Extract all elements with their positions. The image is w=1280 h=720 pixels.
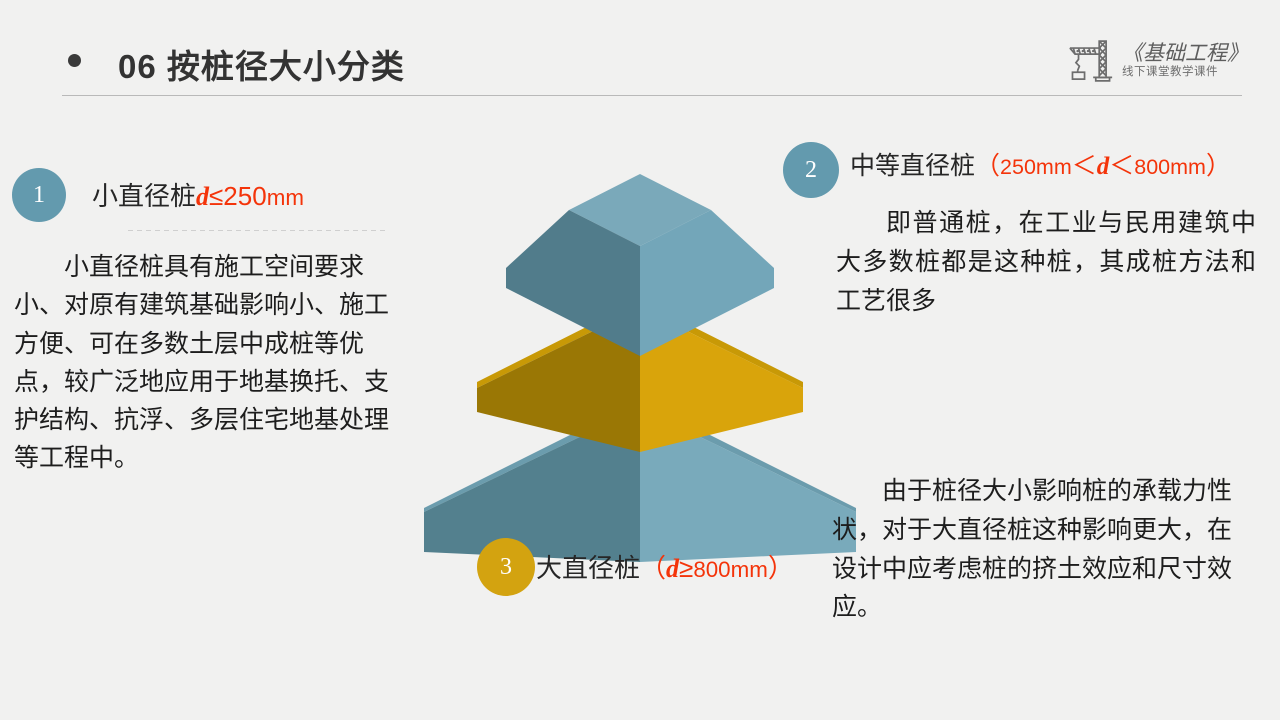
crane-icon [1061,36,1115,86]
section-2-heading: 中等直径桩（250mm＜d＜800mm） [850,146,1231,182]
page-title: 06 按桩径大小分类 [118,40,405,88]
section-3-value: 800mm [693,557,768,582]
slide-header: 06 按桩径大小分类 [0,0,1280,100]
section-2-low-value: 250mm [1000,155,1072,179]
three-tier-pyramid-diagram [424,160,856,572]
section-3-body-text: 由于桩径大小影响桩的承载力性状，对于大直径桩这种影响更大，在设计中应考虑桩的挤土… [832,472,1256,627]
section-3-heading: 大直径桩（d≥800mm） [536,548,794,585]
section-1-heading: 小直径桩d≤250mm [92,176,304,213]
section-1-heading-main: 小直径桩 [92,181,196,211]
logo-subtitle: 线下课堂教学课件 [1122,66,1248,80]
section-2-body-text: 即普通桩，在工业与民用建筑中大多数桩都是这种桩，其成桩方法和工艺很多 [836,204,1256,320]
section-3-relation: ≥ [679,553,693,583]
header-divider [62,95,1242,96]
logo-text-block: 《基础工程》 线下课堂教学课件 [1122,42,1248,79]
section-2-body: 即普通桩，在工业与民用建筑中大多数桩都是这种桩，其成桩方法和工艺很多 [836,204,1256,320]
section-1-divider [128,230,386,231]
section-badge-2: 2 [783,142,839,198]
title-bullet-icon [68,54,81,67]
section-2-paren-open: （ [975,152,1000,180]
section-2-variable: d [1097,153,1110,180]
logo-title: 《基础工程》 [1122,42,1248,66]
section-3-heading-main: 大直径桩 [536,553,640,583]
section-2-heading-main: 中等直径桩 [850,152,975,180]
section-1-relation: ≤ [209,181,223,211]
section-1-body-text: 小直径桩具有施工空间要求小、对原有建筑基础影响小、施工方便、可在多数土层中成桩等… [14,248,396,478]
section-3-variable: d [666,554,679,583]
pyramid-top-tier [506,174,774,356]
slide-root: 06 按桩径大小分类 [0,0,1280,720]
section-3-paren-open: （ [640,553,666,583]
section-3-paren-close: ） [768,553,794,583]
section-2-relation-1: ＜ [1072,152,1097,180]
section-3-body: 由于桩径大小影响桩的承载力性状，对于大直径桩这种影响更大，在设计中应考虑桩的挤土… [832,472,1256,627]
section-2-relation-2: ＜ [1109,152,1134,180]
section-1-variable: d [196,182,209,211]
section-2-high-value: 800mm [1134,155,1206,179]
section-badge-1: 1 [12,168,66,222]
section-1-value: 250 [223,181,266,211]
section-1-body: 小直径桩具有施工空间要求小、对原有建筑基础影响小、施工方便、可在多数土层中成桩等… [14,248,396,478]
section-badge-3: 3 [477,538,535,596]
section-1-unit: mm [267,185,304,210]
course-logo: 《基础工程》 线下课堂教学课件 [1061,34,1248,88]
section-2-paren-close: ） [1206,152,1231,180]
